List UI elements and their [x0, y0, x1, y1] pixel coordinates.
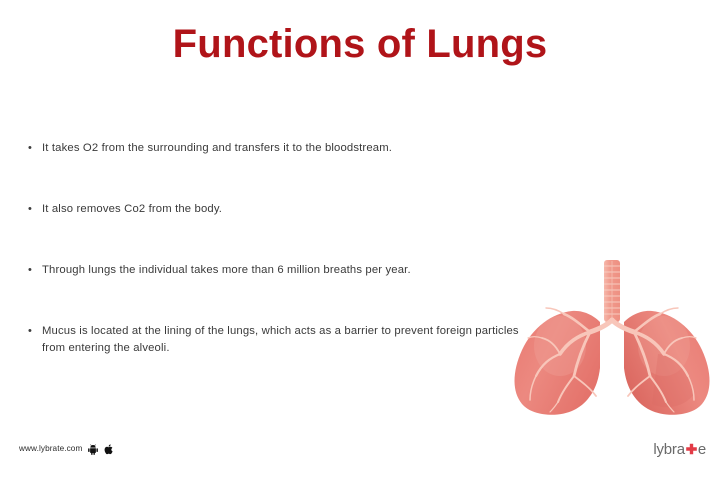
bullet-text: It also removes Co2 from the body. — [42, 201, 528, 218]
bullet-list: • It takes O2 from the surrounding and t… — [28, 140, 528, 357]
website-url[interactable]: www.lybrate.com — [19, 443, 82, 455]
logo-text-post: e — [698, 442, 706, 457]
bullet-marker-icon: • — [28, 140, 42, 157]
slide-canvas: Functions of Lungs • It takes O2 from th… — [0, 0, 720, 482]
footer-left: www.lybrate.com — [19, 443, 113, 455]
lybrate-logo[interactable]: lybra e — [653, 442, 706, 457]
medical-cross-icon — [685, 443, 698, 456]
bullet-text: Mucus is located at the lining of the lu… — [42, 323, 528, 357]
trachea-shape — [604, 260, 620, 322]
android-icon[interactable] — [88, 444, 98, 455]
list-item: • Mucus is located at the lining of the … — [28, 323, 528, 357]
page-title: Functions of Lungs — [0, 22, 720, 66]
list-item: • It takes O2 from the surrounding and t… — [28, 140, 528, 157]
list-item: • Through lungs the individual takes mor… — [28, 262, 528, 279]
bullet-marker-icon: • — [28, 201, 42, 218]
lungs-illustration — [508, 258, 716, 420]
bullet-marker-icon: • — [28, 262, 42, 279]
logo-text-pre: lybra — [653, 442, 685, 457]
bullet-text: Through lungs the individual takes more … — [42, 262, 528, 279]
bullet-text: It takes O2 from the surrounding and tra… — [42, 140, 528, 157]
apple-icon[interactable] — [104, 444, 113, 455]
list-item: • It also removes Co2 from the body. — [28, 201, 528, 218]
bullet-marker-icon: • — [28, 323, 42, 340]
